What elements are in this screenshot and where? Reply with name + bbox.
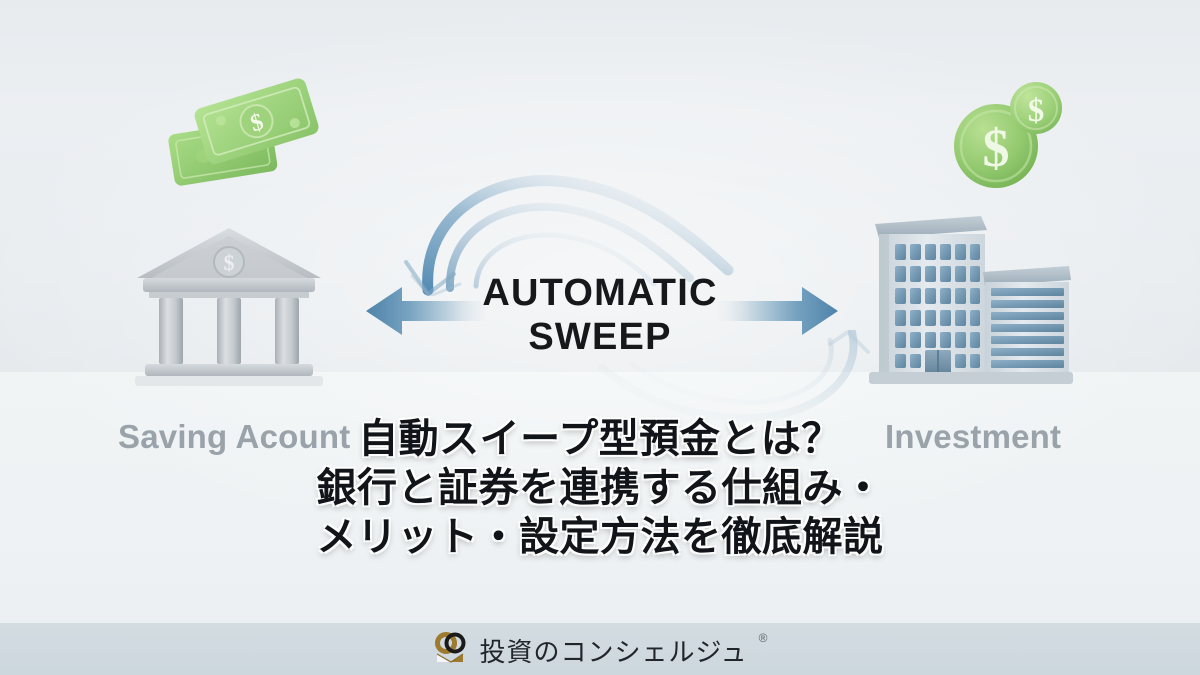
svg-text:$: $ [1028,93,1045,129]
title-line-3: メリット・設定方法を徹底解説 [0,513,1200,562]
dollar-bills-icon: $ [162,62,340,198]
wordmark-line-1: AUTOMATIC [482,272,717,314]
title-line-1: 自動スイープ型預金とは？ [0,415,1200,464]
office-building-icon [863,200,1075,390]
brand-name: 投資のコンシェルジュ [479,632,747,669]
banner-canvas: AUTOMATIC SWEEP $ [0,0,1200,675]
registered-trademark-mark: ® [759,631,768,645]
footer-brand: 投資のコンシェルジュ ® [0,623,1200,675]
dollar-coins-icon: $ $ [944,74,1064,196]
page-title: 自動スイープ型預金とは？ 銀行と証券を連携する仕組み・ メリット・設定方法を徹底… [0,415,1200,562]
title-line-2: 銀行と証券を連携する仕組み・ [0,464,1200,513]
svg-text:$: $ [224,250,235,275]
interlocking-rings-logo [433,632,469,666]
svg-text:$: $ [983,118,1010,178]
bank-building-icon: $ [131,222,327,390]
